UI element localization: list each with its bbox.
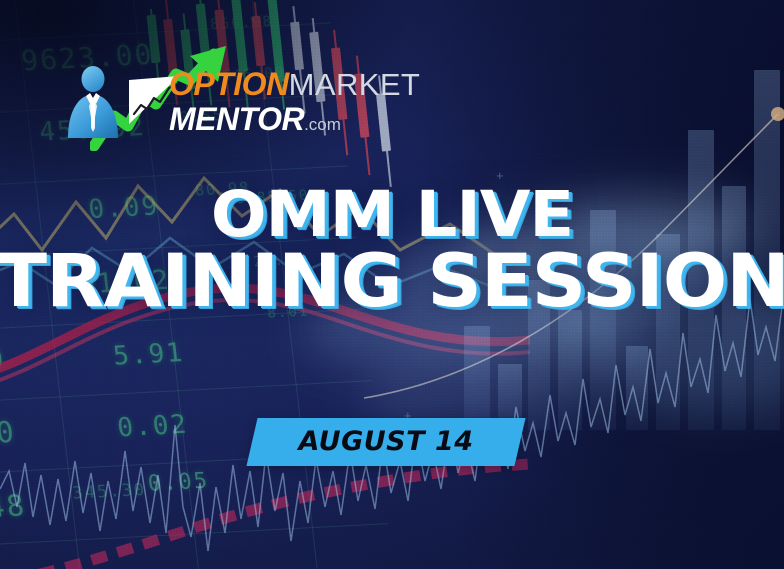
logo[interactable]: OPTIONMARKET MENTOR.com [52, 50, 342, 140]
promo-banner: -0.09489623.00.09450.92-0.55.800.0980.98… [0, 0, 784, 569]
logo-word-option: OPTION [169, 66, 289, 102]
logo-word-mentor: MENTOR [169, 101, 304, 137]
date-banner: AUGUST 14 [246, 418, 525, 466]
headline-line-1: OMM LIVE [0, 186, 784, 244]
logo-word-com: .com [304, 115, 341, 134]
businessman-icon [62, 66, 124, 138]
date-banner-label: AUGUST 14 [252, 418, 520, 466]
logo-word-market: MARKET [289, 67, 421, 102]
headline-line-2: TRAINING SESSION [0, 248, 784, 315]
headline: OMM LIVE TRAINING SESSION [0, 186, 784, 315]
logo-wordmark: OPTIONMARKET MENTOR.com [169, 68, 420, 135]
